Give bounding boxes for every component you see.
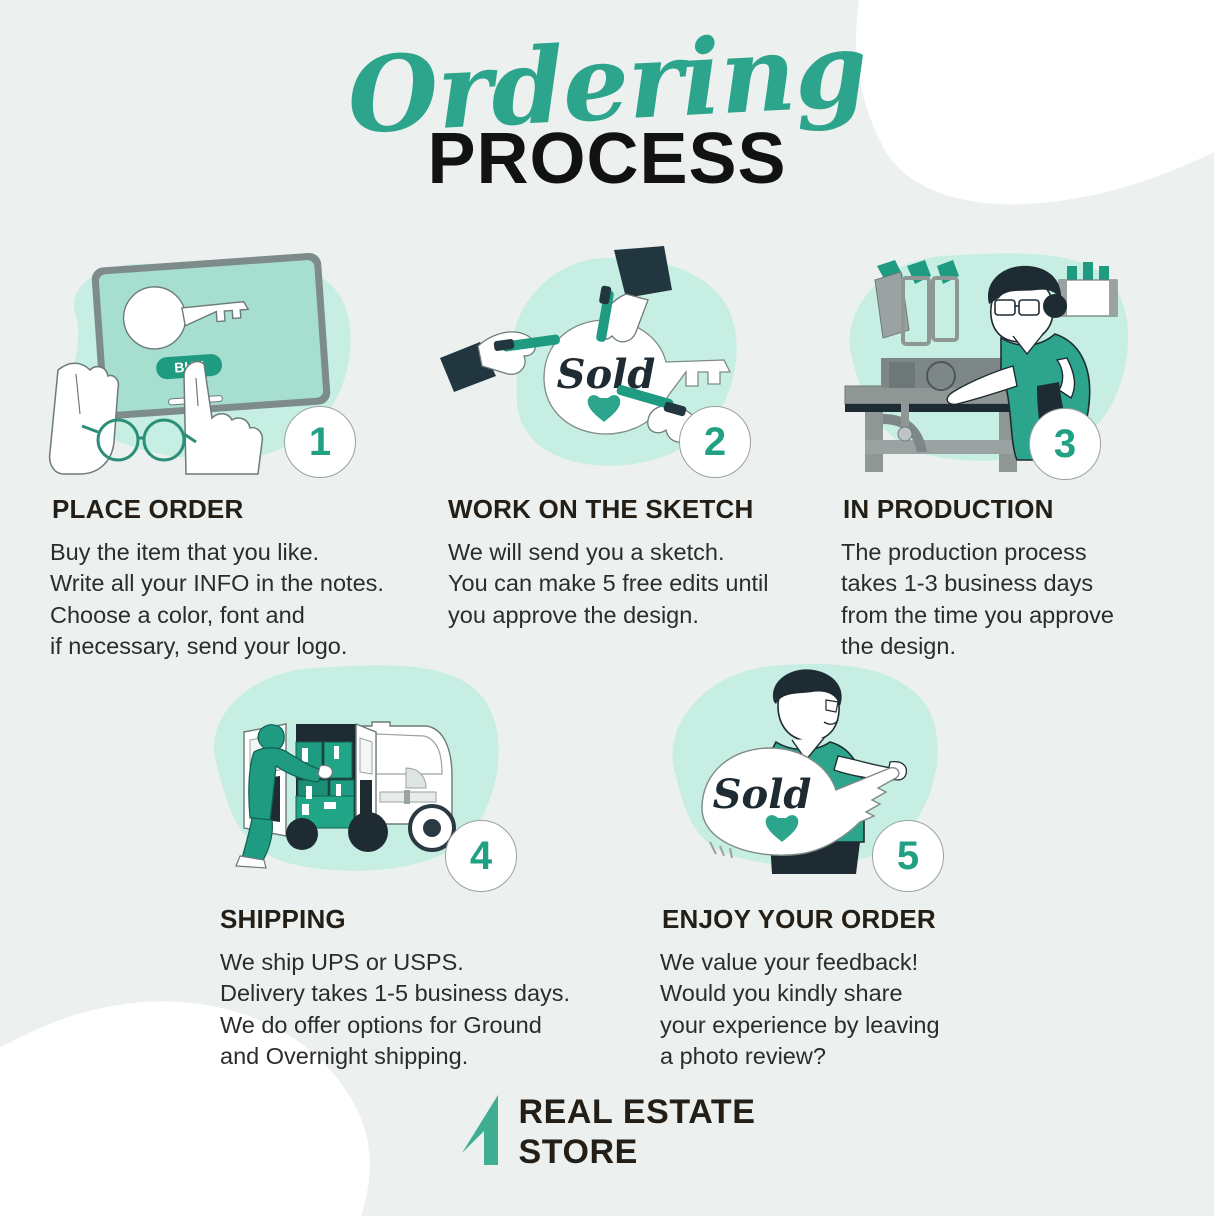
step-card-4: 4 SHIPPING We ship UPS or USPS. Delivery… [190, 656, 650, 1072]
logo-line-1: REAL ESTATE [518, 1093, 755, 1132]
step-body-3: The production process takes 1-3 busines… [831, 537, 1181, 662]
steps-row-two: 4 SHIPPING We ship UPS or USPS. Delivery… [190, 656, 1050, 1072]
enjoy-your-order-illustration: Sold 5 [650, 656, 1050, 888]
step-card-3: 3 IN PRODUCTION The production process t… [831, 246, 1181, 662]
step-body-2: We will send you a sketch. You can make … [436, 537, 831, 631]
in-production-illustration: 3 [831, 246, 1181, 478]
work-on-sketch-illustration: Sold [436, 246, 831, 478]
logo-text: REAL ESTATE STORE [518, 1093, 755, 1172]
footer-logo: REAL ESTATE STORE [0, 1093, 1214, 1172]
step-number-4: 4 [445, 820, 517, 892]
step-title-2: WORK ON THE SKETCH [436, 494, 831, 525]
step-body-1: Buy the item that you like. Write all yo… [36, 537, 436, 662]
steps-row-one: BUY [36, 246, 1186, 662]
logo-line-2: STORE [518, 1133, 755, 1172]
step-number-5: 5 [872, 820, 944, 892]
step-card-5: Sold 5 ENJOY YOUR ORDER We value your fe… [650, 656, 1050, 1072]
place-order-illustration: BUY [36, 246, 436, 478]
step-number-1: 1 [284, 406, 356, 478]
step-title-3: IN PRODUCTION [831, 494, 1181, 525]
step-title-1: PLACE ORDER [36, 494, 436, 525]
shipping-illustration: 4 [190, 656, 650, 888]
step-title-5: ENJOY YOUR ORDER [650, 904, 1050, 935]
step-card-1: BUY [36, 246, 436, 662]
step-body-4: We ship UPS or USPS. Delivery takes 1-5 … [190, 947, 650, 1072]
step-title-4: SHIPPING [190, 904, 650, 935]
step-number-2: 2 [679, 406, 751, 478]
sold-script-text: Sold [713, 771, 812, 818]
step-card-2: Sold [436, 246, 831, 662]
step-body-5: We value your feedback! Would you kindly… [650, 947, 1050, 1072]
step-number-3: 3 [1029, 408, 1101, 480]
page-header: Ordering PROCESS [0, 28, 1214, 195]
house-arrow-logo-mark [458, 1095, 502, 1170]
infographic-page: Ordering PROCESS BUY [0, 0, 1214, 1216]
